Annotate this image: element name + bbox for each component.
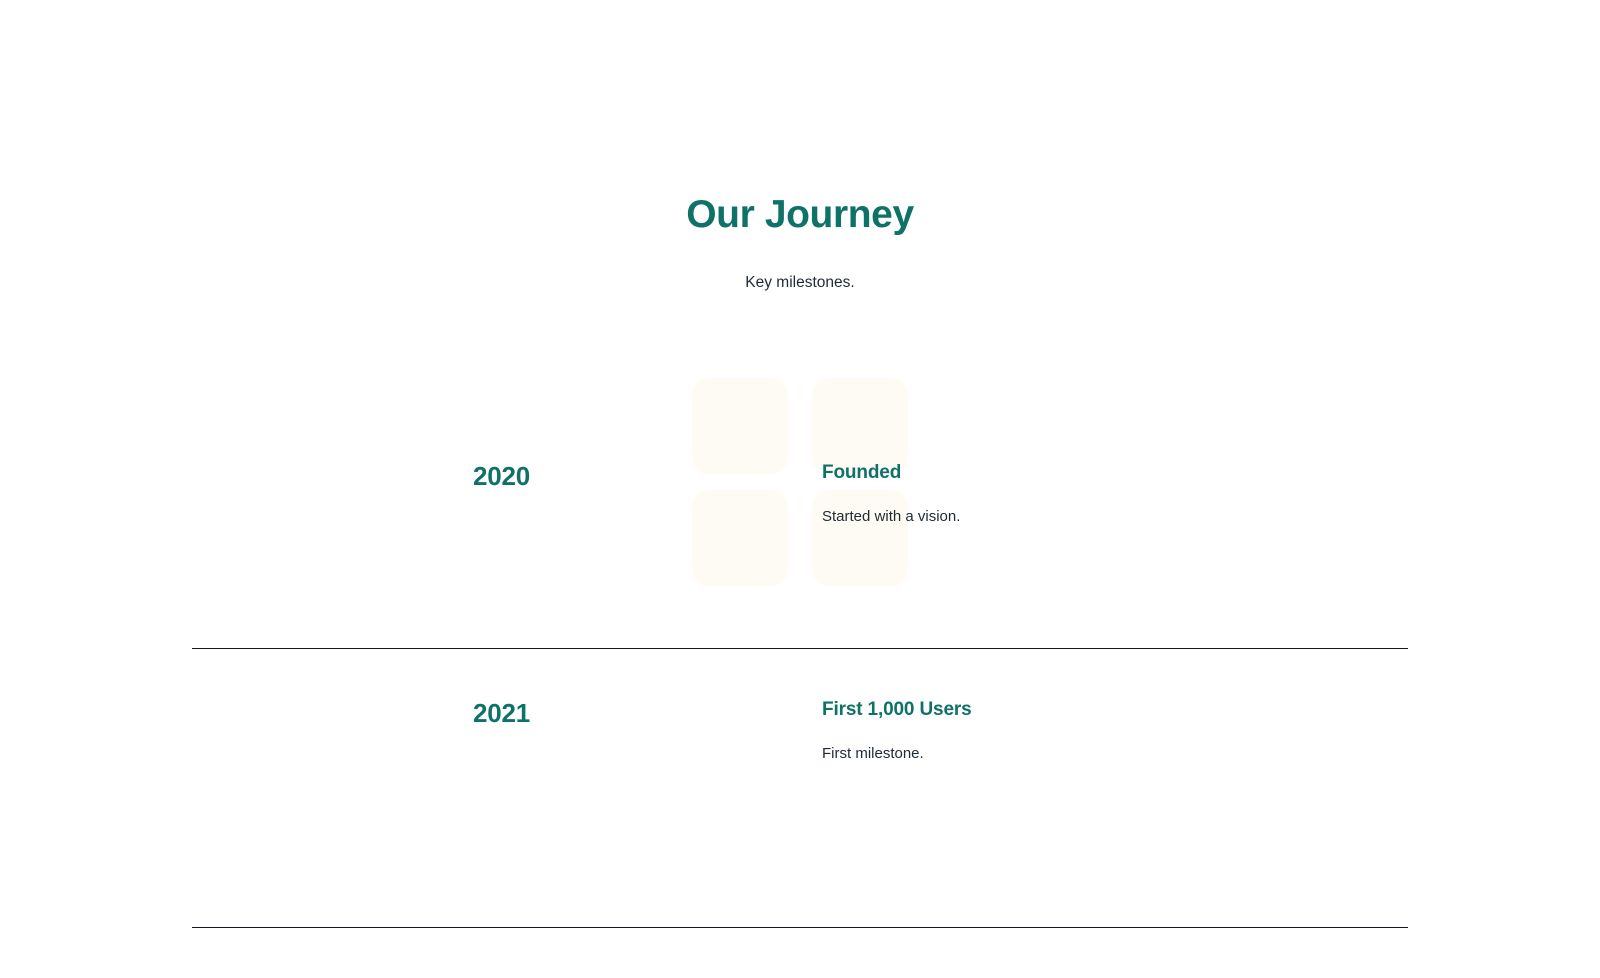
page-subtitle: Key milestones. <box>0 238 1600 294</box>
timeline-content: First 1,000 Users First milestone. <box>822 697 1408 765</box>
timeline-heading: First 1,000 Users <box>822 697 1408 722</box>
timeline-description: First milestone. <box>822 722 1408 765</box>
timeline-year: 2020 <box>192 460 530 492</box>
timeline-heading: Founded <box>822 460 1408 485</box>
timeline: 2020 Founded Started with a vision. 2021… <box>192 340 1408 928</box>
timeline-content: Founded Started with a vision. <box>822 460 1408 528</box>
timeline-row: 2021 First 1,000 Users First milestone. <box>192 649 1408 928</box>
page-title: Our Journey <box>0 192 1600 238</box>
timeline-row: 2020 Founded Started with a vision. <box>192 340 1408 649</box>
our-journey-page: Our Journey Key milestones. 2020 Founded… <box>0 0 1600 978</box>
timeline-year: 2021 <box>192 697 530 729</box>
timeline-description: Started with a vision. <box>822 485 1408 528</box>
page-header: Our Journey Key milestones. <box>0 0 1600 294</box>
